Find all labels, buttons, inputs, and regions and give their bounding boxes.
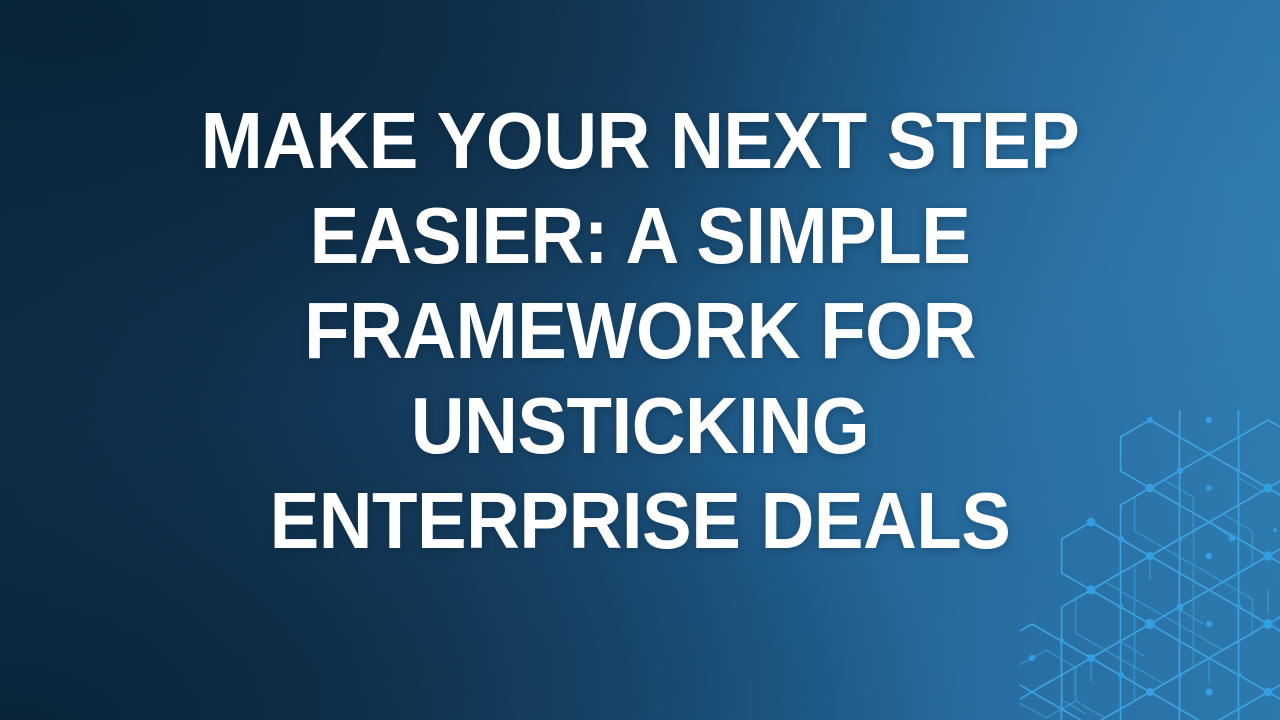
page-title: MAKE YOUR NEXT STEP EASIER: A SIMPLE FRA… <box>129 93 1152 568</box>
headline-line-2: EASIER: A SIMPLE <box>129 188 1152 283</box>
headline-line-5: ENTERPRISE DEALS <box>129 473 1152 568</box>
headline-line-3: FRAMEWORK FOR <box>129 283 1152 378</box>
headline-line-4: UNSTICKING <box>129 378 1152 473</box>
headline-line-1: MAKE YOUR NEXT STEP <box>129 93 1152 188</box>
headline-container: MAKE YOUR NEXT STEP EASIER: A SIMPLE FRA… <box>0 0 1280 720</box>
title-slide: MAKE YOUR NEXT STEP EASIER: A SIMPLE FRA… <box>0 0 1280 720</box>
